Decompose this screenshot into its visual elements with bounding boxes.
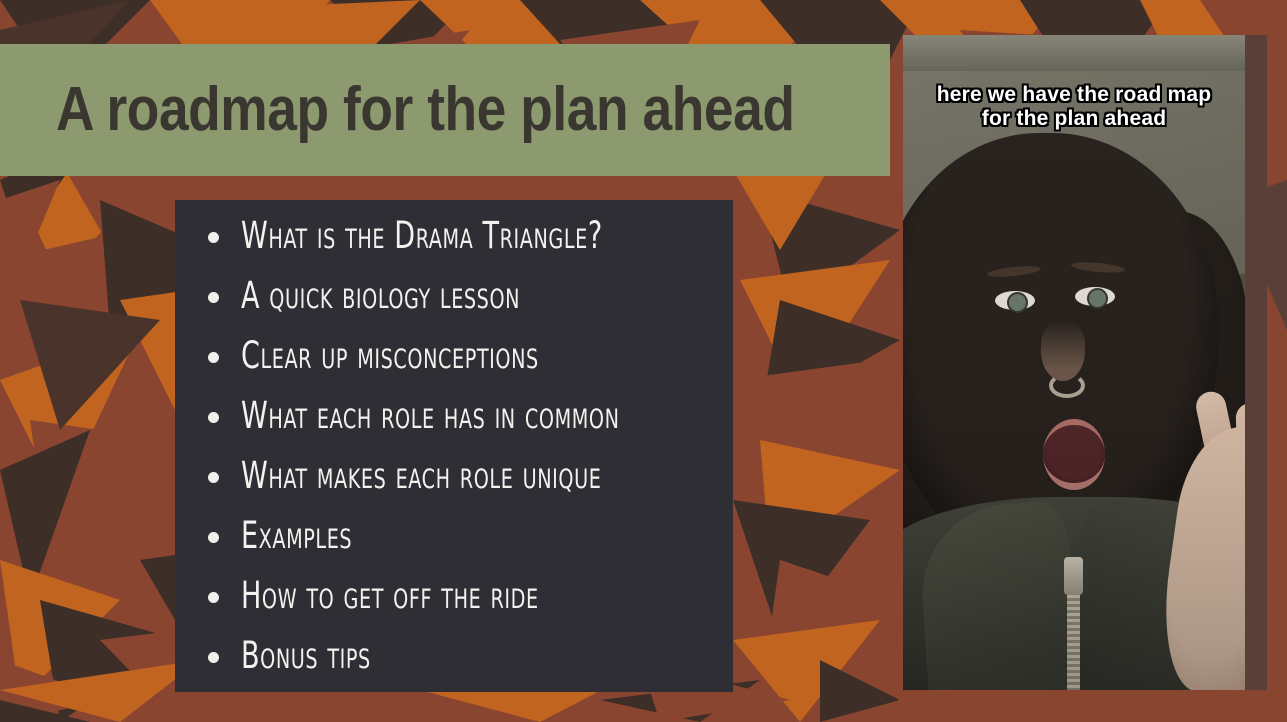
wall-trim: [903, 35, 1267, 71]
list-item-label: A quick biology lesson: [241, 274, 520, 318]
bullet-dot-icon: [208, 352, 219, 363]
zipper-pull: [1064, 557, 1083, 595]
list-item: Bonus tips: [175, 642, 733, 702]
bullet-dot-icon: [208, 292, 219, 303]
bullet-dot-icon: [208, 652, 219, 663]
list-item: Clear up misconceptions: [175, 342, 733, 402]
list-item: Examples: [175, 522, 733, 582]
bullet-list: What is the Drama Triangle? A quick biol…: [175, 200, 733, 702]
bullet-panel: What is the Drama Triangle? A quick biol…: [175, 200, 733, 692]
list-item-label: Bonus tips: [241, 634, 371, 678]
bullet-dot-icon: [208, 532, 219, 543]
video-panel[interactable]: here we have the road map for the plan a…: [903, 35, 1267, 690]
list-item-label: What is the Drama Triangle?: [241, 214, 603, 258]
septum-piercing: [1049, 373, 1085, 398]
bullet-dot-icon: [208, 412, 219, 423]
list-item: What makes each role unique: [175, 462, 733, 522]
iris-right: [1087, 288, 1108, 309]
list-item-label: What each role has in common: [241, 394, 620, 438]
list-item-label: Examples: [241, 514, 352, 558]
list-item-label: Clear up misconceptions: [241, 334, 539, 378]
video-right-edge: [1245, 35, 1267, 690]
list-item-label: What makes each role unique: [241, 454, 601, 498]
mouth: [1043, 419, 1105, 490]
list-item-label: How to get off the ride: [241, 574, 539, 618]
bullet-dot-icon: [208, 232, 219, 243]
nose: [1041, 321, 1085, 381]
bullet-dot-icon: [208, 592, 219, 603]
list-item: A quick biology lesson: [175, 282, 733, 342]
page-title: A roadmap for the plan ahead: [56, 79, 795, 141]
video-frame-image: [903, 35, 1267, 690]
title-bar: A roadmap for the plan ahead: [0, 44, 890, 176]
list-item: How to get off the ride: [175, 582, 733, 642]
list-item: What is the Drama Triangle?: [175, 222, 733, 282]
iris-left: [1007, 292, 1028, 313]
slide-canvas: A roadmap for the plan ahead What is the…: [0, 0, 1287, 722]
bullet-dot-icon: [208, 472, 219, 483]
list-item: What each role has in common: [175, 402, 733, 462]
